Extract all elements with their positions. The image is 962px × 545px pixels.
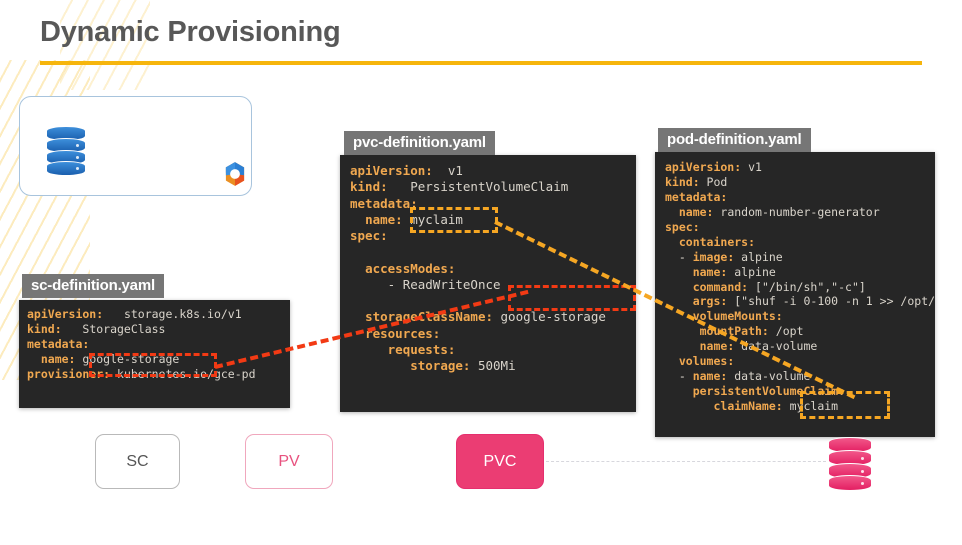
legend-pv-label: PV: [278, 453, 299, 471]
legend-pvc-label: PVC: [484, 453, 517, 471]
sc-definition-panel: apiVersion: storage.k8s.io/v1kind: Stora…: [19, 300, 290, 408]
legend-sc[interactable]: SC: [95, 434, 180, 489]
legend-pvc[interactable]: PVC: [456, 434, 544, 489]
page-title: Dynamic Provisioning: [40, 16, 341, 49]
database-icon-provisioned: [828, 437, 872, 493]
pod-code: apiVersion: v1kind: Podmetadata: name: r…: [665, 160, 935, 414]
slide-canvas: Dynamic Provisioning sc-definition.yaml …: [0, 0, 962, 545]
sc-code: apiVersion: storage.k8s.io/v1kind: Stora…: [27, 307, 290, 382]
pod-definition-panel: apiVersion: v1kind: Podmetadata: name: r…: [655, 152, 935, 437]
pvc-code: apiVersion: v1kind: PersistentVolumeClai…: [350, 163, 636, 374]
google-cloud-icon: [221, 160, 249, 188]
database-icon: [46, 126, 86, 178]
pvc-definition-panel: apiVersion: v1kind: PersistentVolumeClai…: [340, 155, 636, 412]
sc-file-tab: sc-definition.yaml: [22, 274, 164, 298]
connector-pvc-to-database: [546, 461, 826, 462]
title-underline: [40, 61, 922, 65]
legend-pv[interactable]: PV: [245, 434, 333, 489]
legend-sc-label: SC: [126, 453, 148, 471]
pvc-file-tab: pvc-definition.yaml: [344, 131, 495, 155]
pod-file-tab: pod-definition.yaml: [658, 128, 811, 152]
